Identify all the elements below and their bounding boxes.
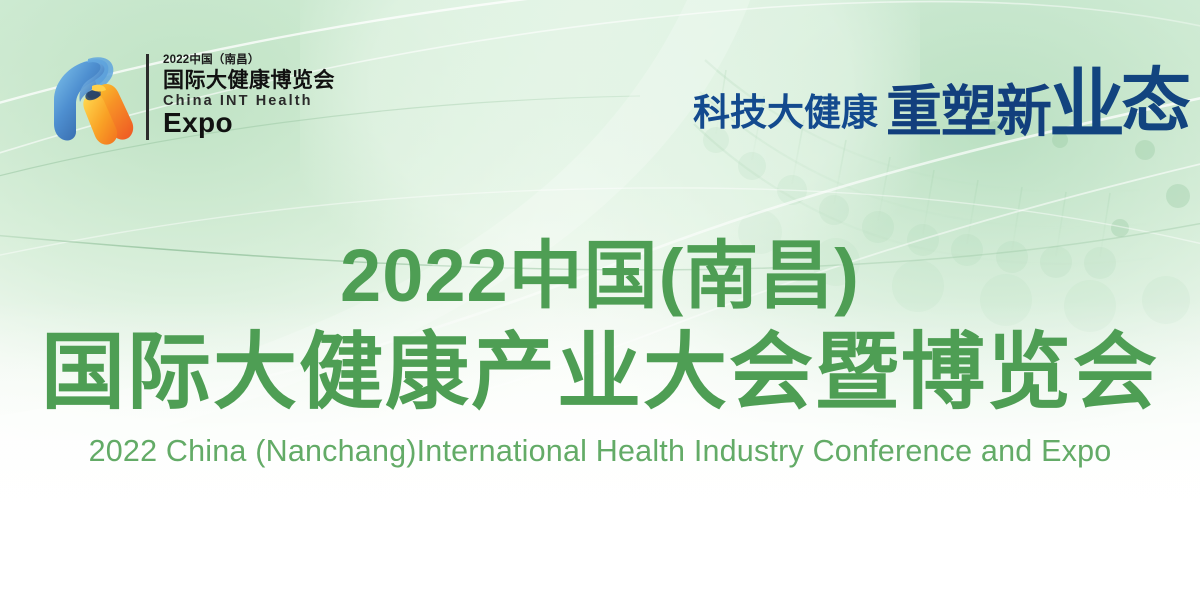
event-slogan: 科技大健康 重塑新 业 态 bbox=[693, 66, 1191, 140]
logo-name-en: China INT Health bbox=[163, 94, 335, 109]
event-banner: 2022中国（南昌） 国际大健康博览会 China INT Health Exp… bbox=[0, 0, 1200, 600]
logo-name-cn: 国际大健康博览会 bbox=[163, 70, 335, 91]
logo-text-block: 2022中国（南昌） 国际大健康博览会 China INT Health Exp… bbox=[163, 55, 335, 137]
title-line-year-city: 2022中国(南昌) bbox=[0, 236, 1200, 316]
slogan-brush-char-1: 业 bbox=[1049, 72, 1119, 140]
slogan-lead-text: 科技大健康 bbox=[693, 94, 878, 140]
logo-year-city: 2022中国（南昌） bbox=[163, 55, 335, 67]
nv-logomark-icon bbox=[48, 46, 136, 146]
expo-logo[interactable]: 2022中国（南昌） 国际大健康博览会 China INT Health Exp… bbox=[48, 46, 335, 146]
title-subtitle-en: 2022 China (Nanchang)International Healt… bbox=[0, 433, 1200, 470]
event-title-block: 2022中国(南昌) 国际大健康产业大会暨博览会 2022 China (Nan… bbox=[0, 236, 1200, 470]
logo-divider bbox=[146, 54, 149, 140]
banner-header: 2022中国（南昌） 国际大健康博览会 China INT Health Exp… bbox=[0, 0, 1200, 200]
slogan-brush-char-2: 态 bbox=[1121, 66, 1191, 140]
slogan-main-text: 重塑新 bbox=[886, 84, 1051, 140]
logo-expo-word: Expo bbox=[163, 109, 335, 137]
title-line-main: 国际大健康产业大会暨博览会 bbox=[0, 324, 1200, 421]
